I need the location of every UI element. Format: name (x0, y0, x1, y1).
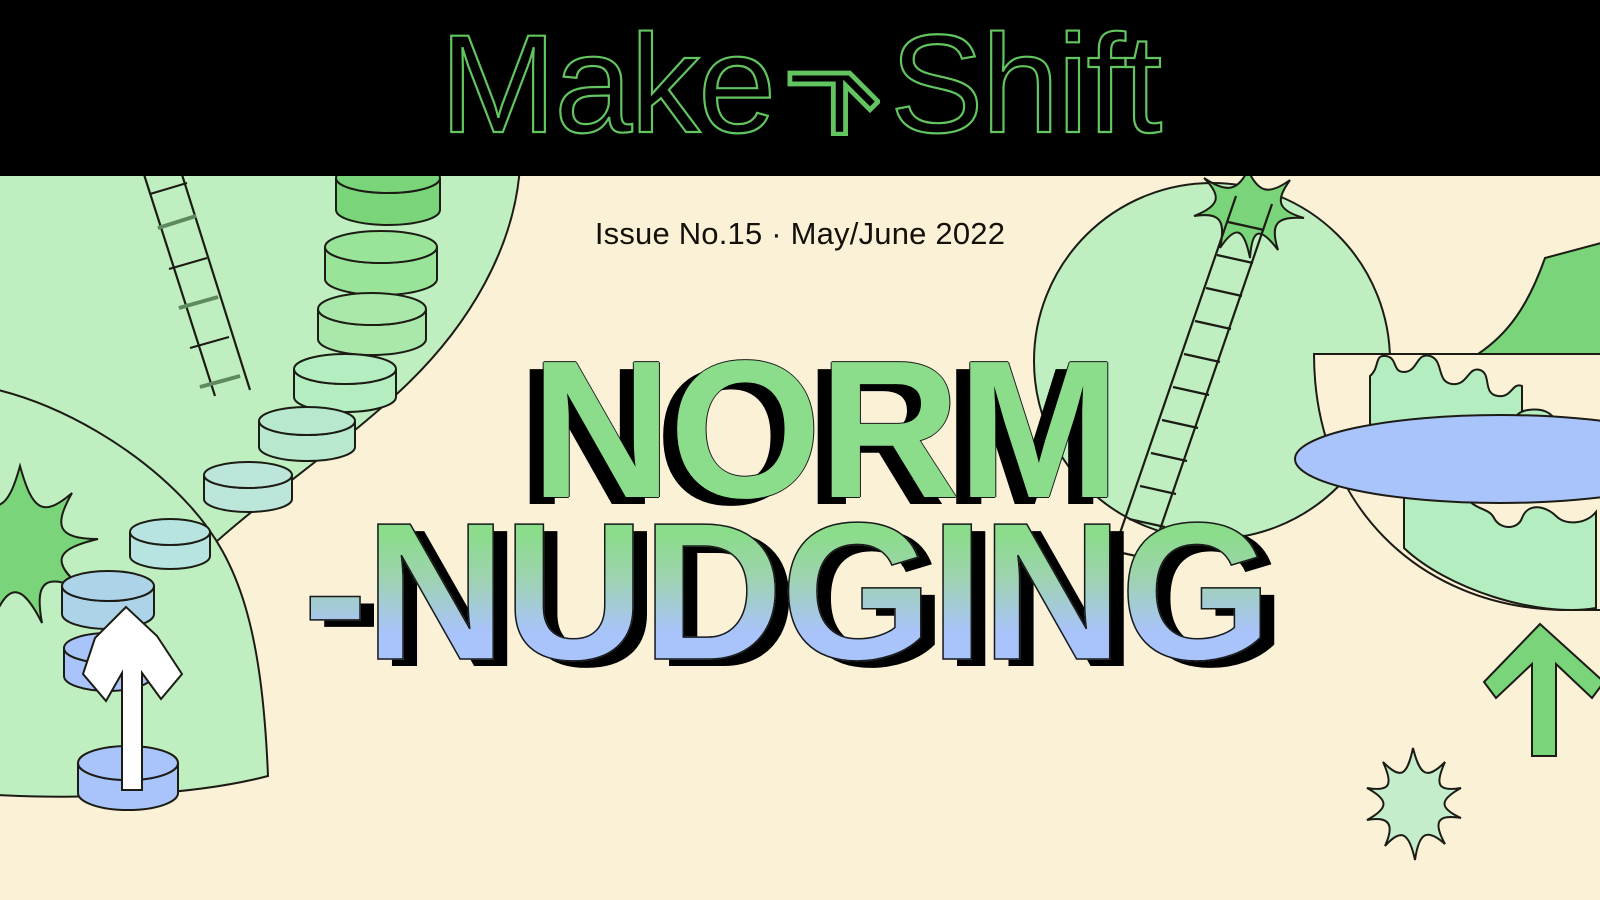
arrow-up-right-outline-icon (784, 40, 880, 136)
masthead-word-shift: Shift (890, 14, 1160, 154)
issue-line: Issue No.15 · May/June 2022 (0, 216, 1600, 252)
magazine-cover: Issue No.15 · May/June 2022 NORM -NUDGIN… (0, 0, 1600, 900)
masthead-logo[interactable]: Make Shift (440, 14, 1160, 154)
masthead-band: Make Shift (0, 0, 1600, 176)
cover-title-line-2-wrapper: -NUDGING -NUDGING (0, 502, 1586, 682)
cover-title-line-2: -NUDGING (0, 502, 1586, 682)
cover-title-block: NORM -NUDGING -NUDGING (0, 340, 1600, 683)
masthead-word-make: Make (440, 14, 774, 154)
